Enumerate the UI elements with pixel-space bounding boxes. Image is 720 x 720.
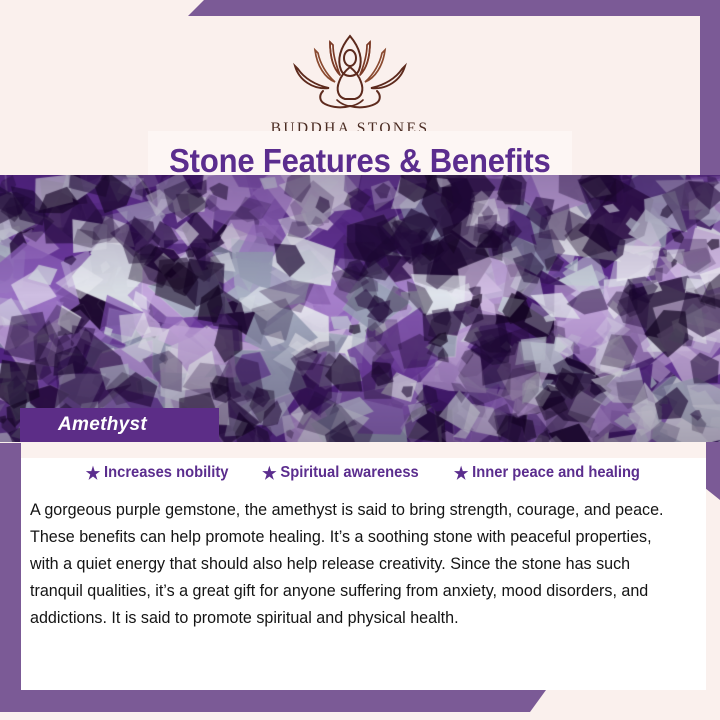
star-icon: ★ bbox=[86, 465, 100, 482]
bottom-purple-band bbox=[0, 690, 546, 712]
brand-logo: BUDDHA STONES bbox=[0, 28, 700, 138]
left-purple-band bbox=[0, 443, 21, 691]
header: BUDDHA STONES Stone Features & Benefits bbox=[0, 16, 700, 175]
feature-item: ★ Inner peace and healing bbox=[454, 464, 640, 482]
star-icon: ★ bbox=[454, 465, 468, 482]
feature-item: ★ Increases nobility bbox=[86, 464, 229, 482]
feature-label: Spiritual awareness bbox=[281, 464, 419, 482]
feature-label: Inner peace and healing bbox=[472, 464, 640, 482]
star-icon: ★ bbox=[262, 465, 276, 482]
lotus-meditation-icon bbox=[275, 28, 425, 116]
details-panel: ★ Increases nobility ★ Spiritual awarene… bbox=[21, 442, 706, 690]
panel-top-strip bbox=[21, 442, 706, 458]
amethyst-hero-image bbox=[0, 175, 720, 442]
stone-description: A gorgeous purple gemstone, the amethyst… bbox=[30, 496, 678, 631]
stone-name-banner: Amethyst bbox=[20, 408, 219, 442]
feature-item: ★ Spiritual awareness bbox=[262, 464, 419, 482]
infographic-card: BUDDHA STONES Stone Features & Benefits … bbox=[0, 0, 720, 720]
feature-list: ★ Increases nobility ★ Spiritual awarene… bbox=[21, 464, 706, 482]
feature-label: Increases nobility bbox=[104, 464, 228, 482]
stone-name: Amethyst bbox=[20, 414, 147, 436]
top-purple-band bbox=[188, 0, 720, 16]
